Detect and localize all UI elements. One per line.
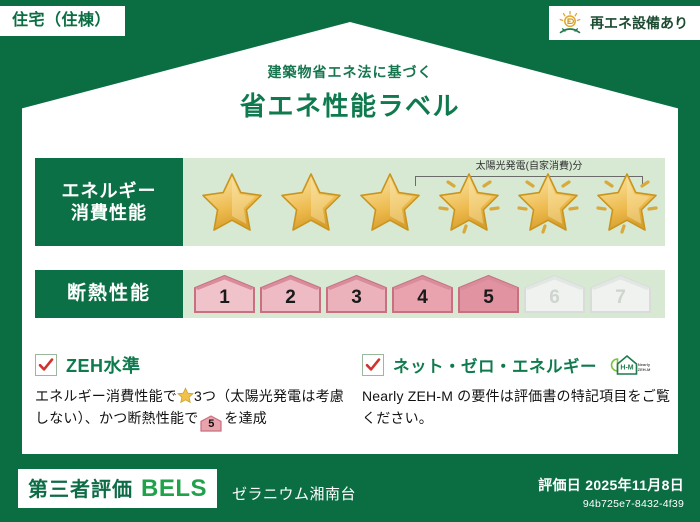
star-icon <box>355 168 425 236</box>
insulation-performance-row: 断熱性能 1234567 <box>35 270 665 318</box>
insulation-level-value: 7 <box>615 287 626 314</box>
label-main-title: 省エネ性能ラベル <box>0 86 700 123</box>
energy-label-line1: エネルギー <box>62 180 157 203</box>
title-block: 建築物省エネ法に基づく 省エネ性能ラベル <box>0 62 700 123</box>
insulation-level-3: 3 <box>325 274 388 314</box>
evaluation-id: 94b725e7-8432-4f39 <box>538 498 684 510</box>
building-name: ゼラニウム湘南台 <box>232 483 356 504</box>
net-zero-title: ネット・ゼロ・エネルギー <box>393 353 597 377</box>
insulation-level-value: 3 <box>351 287 362 314</box>
insulation-level-scale: 1234567 <box>183 274 652 314</box>
checkmark-icon <box>35 354 57 376</box>
label-footer: 第三者評価 BELS ゼラニウム湘南台 評価日 2025年11月8日 94b72… <box>0 462 700 522</box>
evaluation-meta: 評価日 2025年11月8日 94b725e7-8432-4f39 <box>538 475 684 510</box>
star-cell-2 <box>272 166 349 238</box>
insulation-level-7: 7 <box>589 274 652 314</box>
star-icon <box>513 168 583 236</box>
net-zero-description: Nearly ZEH-M の要件は評価書の特記項目をご覧ください。 <box>362 386 672 429</box>
bels-logo-text: BELS <box>141 475 207 503</box>
checkmark-icon <box>362 354 384 376</box>
star-icon <box>592 168 662 236</box>
star-cell-4 <box>430 166 507 238</box>
insulation-performance-label: 断熱性能 <box>35 270 183 318</box>
label-subtitle: 建築物省エネ法に基づく <box>0 62 700 82</box>
energy-performance-row: エネルギー 消費性能 太陽光発電(自家消費)分 <box>35 158 665 246</box>
insulation-level-value: 2 <box>285 287 296 314</box>
energy-star-rating <box>183 166 665 238</box>
inline-star-icon <box>177 387 194 404</box>
zeh-text-part1: エネルギー消費性能で <box>35 388 177 404</box>
insulation-level-1: 1 <box>193 274 256 314</box>
svg-text:ZEH-M: ZEH-M <box>638 367 651 372</box>
zeh-title: ZEH水準 <box>66 352 141 378</box>
insulation-level-5: 5 <box>457 274 520 314</box>
zeh-text-part3: を達成 <box>224 410 267 426</box>
star-cell-3 <box>351 166 428 238</box>
insulation-performance-body: 1234567 <box>183 270 665 318</box>
insulation-level-value: 4 <box>417 287 428 314</box>
insulation-level-6: 6 <box>523 274 586 314</box>
inline-house-badge: 5 <box>200 415 222 432</box>
building-type-label: 住宅（住棟） <box>12 12 111 29</box>
renewable-badge-label: 再エネ設備あり <box>590 13 688 33</box>
building-type-badge: 住宅（住棟） <box>0 6 125 36</box>
zeh-m-house-logo-icon: H-M Nearly ZEH-M <box>608 352 654 378</box>
star-icon <box>434 168 504 236</box>
star-icon <box>197 168 267 236</box>
insulation-label-text: 断熱性能 <box>67 282 151 306</box>
insulation-level-2: 2 <box>259 274 322 314</box>
star-cell-1 <box>193 166 270 238</box>
insulation-level-value: 5 <box>483 287 494 314</box>
star-cell-5 <box>509 166 586 238</box>
svg-text:H-M: H-M <box>620 365 633 372</box>
renewable-equipment-badge: 再エネ設備あり <box>549 6 700 40</box>
evaluation-date: 評価日 2025年11月8日 <box>538 475 684 495</box>
energy-label-root: 住宅（住棟） 再エネ設備あり 建築物省エネ法に基づく <box>0 0 700 522</box>
insulation-level-4: 4 <box>391 274 454 314</box>
zeh-description: エネルギー消費性能で3つ（太陽光発電は考慮しない）、かつ断熱性能で5を達成 <box>35 386 345 432</box>
zeh-heading: ZEH水準 <box>35 352 345 378</box>
zeh-standard-block: ZEH水準 エネルギー消費性能で3つ（太陽光発電は考慮しない）、かつ断熱性能で5… <box>35 352 345 432</box>
third-party-eval-label: 第三者評価 <box>28 473 133 502</box>
insulation-level-value: 1 <box>219 287 230 314</box>
bels-certification-box: 第三者評価 BELS <box>18 469 217 508</box>
energy-performance-body: 太陽光発電(自家消費)分 <box>183 158 665 246</box>
inline-house-value: 5 <box>200 415 222 434</box>
insulation-level-value: 6 <box>549 287 560 314</box>
sun-solar-icon <box>557 10 583 36</box>
net-zero-energy-block: ネット・ゼロ・エネルギー H-M Nearly ZEH-M Nearly ZEH… <box>362 352 672 429</box>
net-zero-heading: ネット・ゼロ・エネルギー H-M Nearly ZEH-M <box>362 352 672 378</box>
energy-label-line2: 消費性能 <box>71 202 147 225</box>
star-icon <box>276 168 346 236</box>
star-cell-6 <box>588 166 665 238</box>
energy-performance-label: エネルギー 消費性能 <box>35 158 183 246</box>
